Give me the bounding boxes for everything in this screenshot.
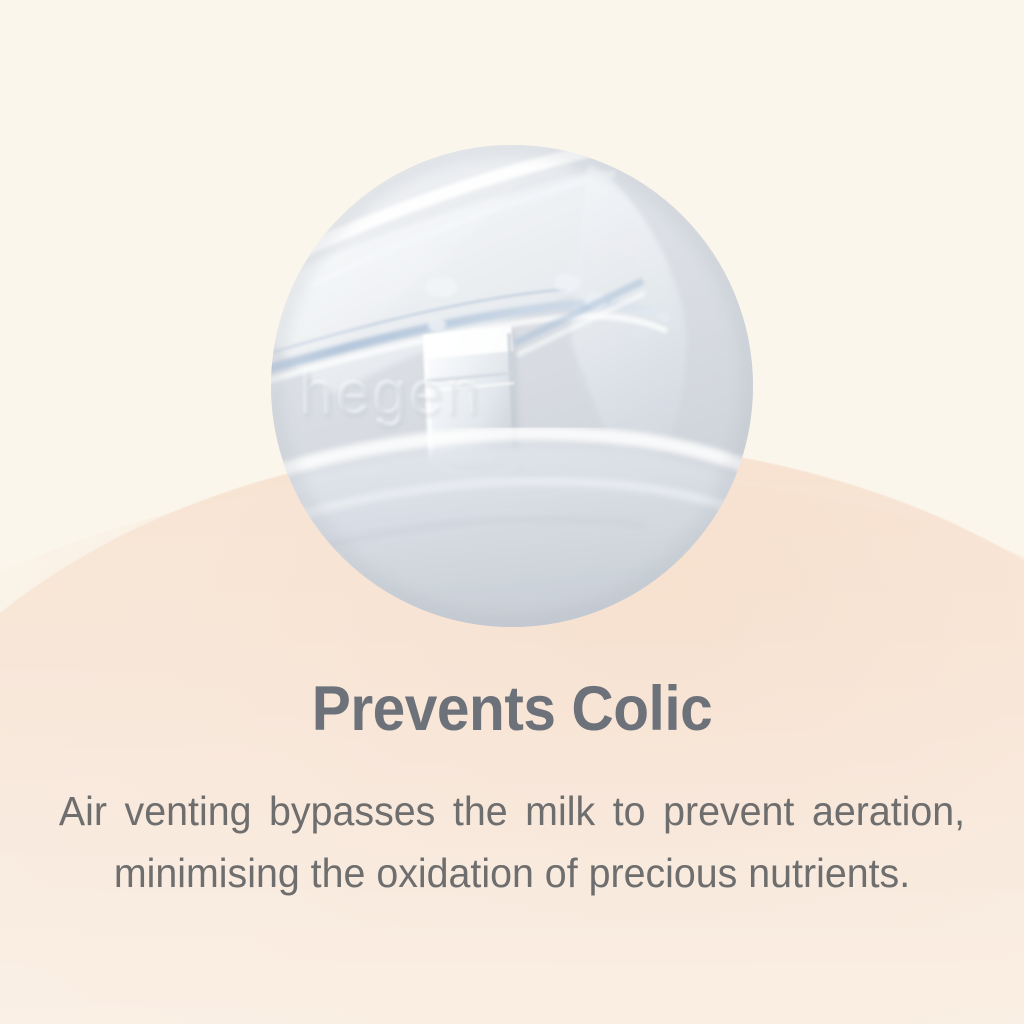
hegen-emboss: hegen hegen [299, 358, 483, 431]
feature-card: hegen hegen Prevents Colic Air venting b… [0, 0, 1024, 1024]
text-content: Prevents Colic Air venting bypasses the … [0, 672, 1024, 904]
product-photo-circle: hegen hegen [271, 145, 753, 627]
page-title: Prevents Colic [36, 672, 988, 746]
svg-text:hegen: hegen [301, 362, 483, 431]
bottle-teat-macro-image: hegen hegen [271, 145, 753, 627]
description-text: Air venting bypasses the milk to prevent… [59, 780, 965, 904]
